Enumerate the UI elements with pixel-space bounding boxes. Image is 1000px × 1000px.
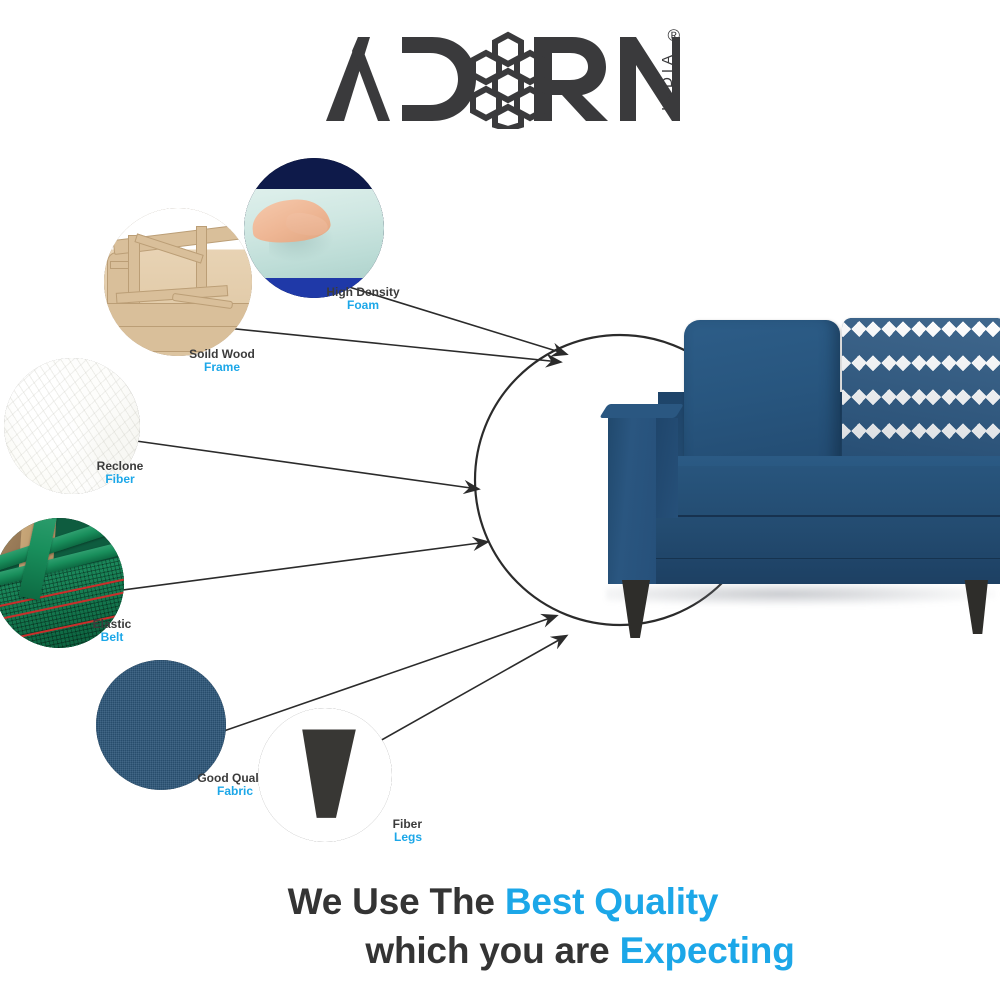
adorn-logo-wordmark [320,25,680,129]
tagline-line-2-accent: Expecting [620,930,795,971]
infographic-canvas: INDIA ® [0,0,1000,1000]
label-line-1: Soild Wood [162,348,282,361]
label-line-2: Frame [162,361,282,374]
label-line-2: Foam [296,299,430,312]
label-fiber-legs: Fiber Legs [302,818,422,845]
sofa-shadow [606,582,996,606]
tagline-line-1-accent: Best Quality [505,881,719,922]
registered-trademark-icon: ® [667,27,680,44]
tagline-line-1-plain: We Use The [288,881,505,922]
hexagon-cluster-icon [473,35,543,129]
sofa-arm-top [599,404,684,418]
feature-reclone-fiber[interactable]: Reclone Fiber [4,358,140,494]
logo-country-label: INDIA [659,51,676,111]
feature-good-quality-fabric[interactable]: Good Quality Fabric [96,660,226,790]
label-elastic-belt: Elastic Belt [58,618,166,645]
sofa-seat-seam [636,515,1000,517]
feature-fiber-legs[interactable]: Fiber Legs [258,708,392,842]
foam-photo [244,158,384,298]
label-line-1: Elastic [58,618,166,631]
label-line-1: Fiber [302,818,422,831]
tagline-line-2: which you are Expecting [0,927,1000,976]
tagline-line-1: We Use The Best Quality [0,878,1000,927]
label-line-1: Reclone [60,460,180,473]
sofa-front-leg [622,580,650,638]
sofa-left-arm [608,404,656,584]
brand-logo: INDIA ® [0,22,1000,137]
feature-solid-wood-frame[interactable]: Soild Wood Frame [104,208,252,356]
tagline-line-2-plain: which you are [365,930,619,971]
feature-elastic-belt[interactable]: Elastic Belt [0,518,124,648]
high-density-foam-thumbnail[interactable] [244,158,384,298]
solid-wood-frame-thumbnail[interactable] [104,208,252,356]
label-line-2: Belt [58,631,166,644]
sofa-rear-leg [962,580,988,634]
label-line-2: Fiber [60,473,180,486]
label-reclone-fiber: Reclone Fiber [60,460,180,487]
tagline-block: We Use The Best Quality which you are Ex… [0,878,1000,976]
label-line-1: High Density [296,286,430,299]
label-high-density-foam: High Density Foam [296,286,430,313]
wood-frame-photo [104,208,252,356]
sofa-product-image [596,296,1000,636]
label-line-2: Legs [302,831,422,844]
sofa-skirt-seam [610,558,1000,559]
label-solid-wood-frame: Soild Wood Frame [162,348,282,375]
feature-high-density-foam[interactable]: High Density Foam [244,158,384,298]
